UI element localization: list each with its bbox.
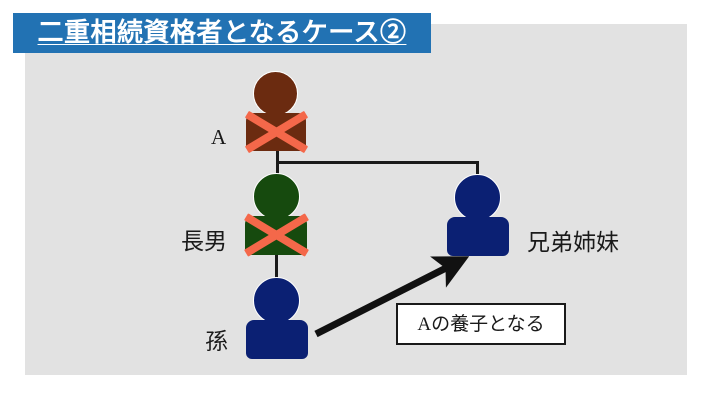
person-siblings-head [454, 174, 501, 221]
slide-title: 二重相続資格者となるケース② [38, 20, 407, 46]
person-a-deceased-cross-icon [242, 110, 311, 153]
person-grandchild-label: 孫 [205, 330, 228, 353]
adoption-note-text: Aの養子となる [417, 315, 544, 334]
connector-a-to-children-horizontal [276, 161, 479, 164]
connector-eldest-son-to-grandchild [275, 254, 278, 278]
person-grandchild-body [246, 320, 308, 359]
person-siblings-label: 兄弟姉妹 [527, 231, 619, 254]
slide-canvas: 二重相続資格者となるケース② A 長男 孫 兄弟姉妹 [0, 0, 710, 400]
person-a-label: A [211, 127, 226, 148]
connector-siblings-stem [476, 161, 479, 174]
person-grandchild-head [253, 277, 300, 324]
slide-title-bar: 二重相続資格者となるケース② [13, 13, 431, 53]
adoption-note-box: Aの養子となる [396, 303, 566, 345]
person-eldest-son-label: 長男 [181, 230, 227, 253]
